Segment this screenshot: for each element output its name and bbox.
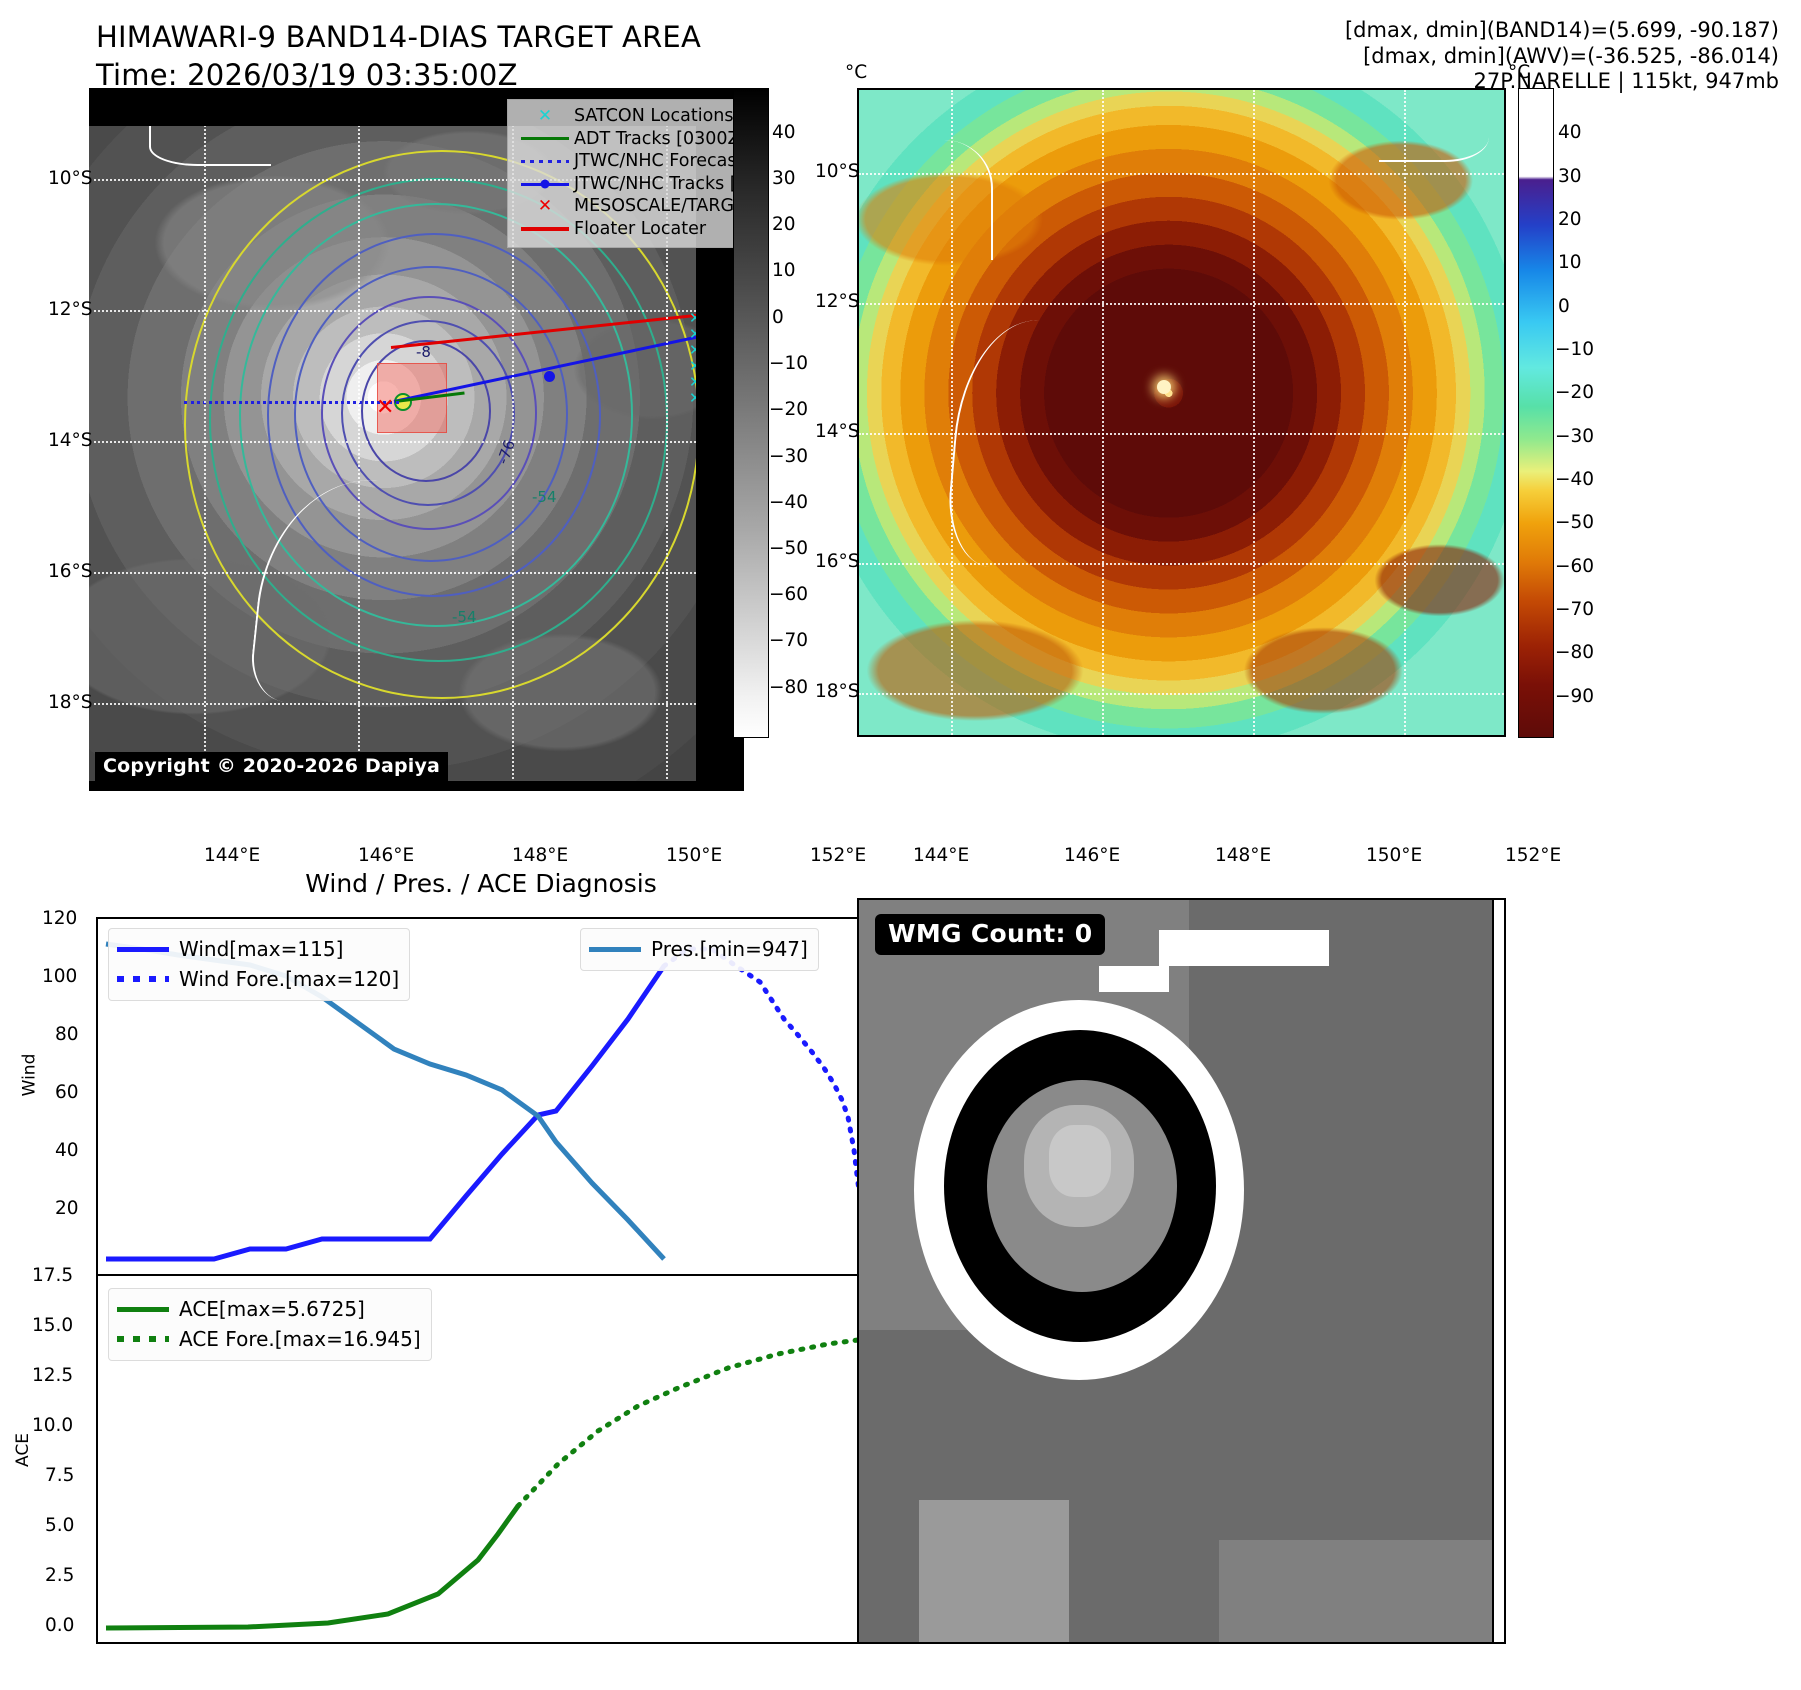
ace-legend: ACE[max=5.6725] ACE Fore.[max=16.945]	[108, 1288, 432, 1361]
wind-tick: 20	[55, 1198, 79, 1219]
colorbar-tick: 40	[1558, 122, 1582, 143]
colorbar-tick: 40	[772, 122, 796, 143]
legend-label: ACE[max=5.6725]	[179, 1294, 365, 1324]
coastline	[871, 140, 993, 260]
lon-tick: 148°E	[1215, 845, 1271, 866]
header-info: [dmax, dmin](BAND14)=(5.699, -90.187) [d…	[1345, 18, 1779, 95]
ace-observed-line	[106, 1506, 518, 1628]
lat-tick: 12°S	[815, 291, 860, 312]
ace-forecast-dotted-icon	[117, 1336, 179, 1342]
lon-tick: 146°E	[1064, 845, 1120, 866]
panel-edge-strip	[1492, 900, 1504, 1642]
legend-item: ✕ SATCON Locations [2300Z 122 944]	[516, 105, 744, 128]
wmg-white-cloud-region	[1099, 966, 1169, 992]
grid-line	[89, 310, 744, 312]
grid-line	[1404, 90, 1406, 735]
legend-item: Pres.[min=947]	[589, 934, 808, 964]
legend-label: Pres.[min=947]	[651, 934, 808, 964]
lat-tick: 10°S	[815, 161, 860, 182]
lat-tick: 16°S	[48, 561, 93, 582]
awv-range: [dmax, dmin](AWV)=(-36.525, -86.014)	[1345, 44, 1779, 70]
wind-tick: 120	[42, 908, 77, 929]
grid-line	[859, 303, 1504, 305]
colorbar-unit: °C	[1508, 62, 1530, 83]
colorbar-tick: −60	[769, 584, 808, 605]
ace-tick: 15.0	[32, 1315, 73, 1336]
wind-observed-line	[106, 966, 664, 1259]
ace-tick: 2.5	[45, 1565, 74, 1586]
ace-tick: 10.0	[32, 1415, 73, 1436]
ir-target-area-image[interactable]: ✕ ✕✕✕✕✕✕✕✕✕✕✕✕ -8 -76 -54 -54 ✕ SATCON L…	[89, 88, 744, 791]
grid-line	[89, 572, 744, 574]
diagnosis-chart-title: Wind / Pres. / ACE Diagnosis	[96, 869, 866, 898]
grid-line	[859, 563, 1504, 565]
lat-tick: 14°S	[48, 430, 93, 451]
jtwc-forecast-line	[184, 401, 399, 404]
wmg-dark-region	[919, 1500, 1069, 1642]
wmg-core-bright	[1049, 1125, 1111, 1197]
pressure-solid-line-icon	[589, 947, 651, 952]
legend-item: Wind[max=115]	[117, 934, 399, 964]
lon-tick: 144°E	[913, 845, 969, 866]
pressure-legend: Pres.[min=947]	[580, 928, 819, 971]
legend-item: JTWC/NHC Forecast [19/0000Z]	[516, 150, 744, 173]
legend-item: ADT Tracks [0300Z 115.0 946.8]	[516, 128, 744, 151]
colorbar-tick: −30	[1555, 426, 1594, 447]
lon-tick: 152°E	[810, 845, 866, 866]
legend-item: Wind Fore.[max=120]	[117, 964, 399, 994]
coastline	[1379, 100, 1489, 162]
ir-colorbar	[733, 88, 769, 738]
legend-label: Floater Locater	[574, 218, 706, 241]
adt-line-icon	[516, 129, 574, 149]
lon-tick: 146°E	[358, 845, 414, 866]
image-border-bottom	[89, 781, 744, 791]
band14-range: [dmax, dmin](BAND14)=(5.699, -90.187)	[1345, 18, 1779, 44]
ace-forecast-line	[518, 1340, 858, 1506]
lat-tick: 14°S	[815, 421, 860, 442]
colorbar-tick: 30	[772, 168, 796, 189]
lat-tick: 12°S	[48, 299, 93, 320]
lat-tick: 18°S	[48, 692, 93, 713]
title-line-1: HIMAWARI-9 BAND14-DIAS TARGET AREA	[96, 18, 896, 56]
legend-label: ACE Fore.[max=16.945]	[179, 1324, 421, 1354]
colorbar-tick: 10	[1558, 252, 1582, 273]
colorbar-tick: 20	[772, 214, 796, 235]
colorbar-tick: 20	[1558, 209, 1582, 230]
grid-line	[859, 173, 1504, 175]
dashboard-root: HIMAWARI-9 BAND14-DIAS TARGET AREA Time:…	[0, 0, 1801, 1690]
mesoscale-target-marker: ✕	[376, 401, 394, 415]
lon-tick: 150°E	[1366, 845, 1422, 866]
eye-hotspot	[1157, 380, 1171, 394]
enhanced-ir-image[interactable]	[857, 88, 1506, 737]
colorbar-tick: −90	[1555, 686, 1594, 707]
colorbar-unit: °C	[845, 62, 867, 83]
lat-tick: 10°S	[48, 168, 93, 189]
copyright-notice: Copyright © 2020-2026 Dapiya	[95, 752, 448, 781]
colorbar-tick: 10	[772, 260, 796, 281]
wmg-count-badge: WMG Count: 0	[875, 914, 1105, 955]
wind-tick: 80	[55, 1024, 79, 1045]
colorbar-tick: −80	[1555, 642, 1594, 663]
enhanced-ir-colorbar	[1518, 88, 1554, 738]
wmg-white-cloud-region	[1159, 930, 1329, 966]
wind-tick: 100	[42, 966, 77, 987]
legend-label: JTWC/NHC Tracks [19/0000Z]	[574, 173, 744, 196]
wmg-image[interactable]: WMG Count: 0	[857, 898, 1506, 1644]
forecast-dotted-line-icon	[516, 151, 574, 171]
lon-tick: 148°E	[512, 845, 568, 866]
colorbar-tick: 0	[1558, 296, 1570, 317]
lon-tick: 152°E	[1505, 845, 1561, 866]
wind-forecast-line	[664, 949, 862, 1209]
ir-legend: ✕ SATCON Locations [2300Z 122 944] ADT T…	[507, 99, 744, 248]
colorbar-tick: 30	[1558, 166, 1582, 187]
colorbar-tick: −50	[1555, 512, 1594, 533]
colorbar-tick: −20	[769, 399, 808, 420]
wind-axis-label: Wind	[19, 1054, 39, 1097]
satcon-marker-icon: ✕	[516, 106, 574, 126]
ace-axis-label: ACE	[13, 1433, 33, 1467]
legend-label: JTWC/NHC Forecast [19/0000Z]	[574, 150, 744, 173]
contour-label: -8	[416, 343, 431, 361]
colorbar-tick: −50	[769, 538, 808, 559]
colorbar-tick: −10	[1555, 339, 1594, 360]
legend-item: ✕ MESOSCALE/TARGET Location	[516, 195, 744, 218]
colorbar-tick: −80	[769, 677, 808, 698]
grid-line	[859, 433, 1504, 435]
legend-label: Wind Fore.[max=120]	[179, 964, 399, 994]
legend-label: Wind[max=115]	[179, 934, 343, 964]
wind-forecast-dotted-icon	[117, 976, 179, 982]
lon-tick: 150°E	[666, 845, 722, 866]
wind-tick: 40	[55, 1140, 79, 1161]
colorbar-tick: 0	[772, 307, 784, 328]
legend-item: Floater Locater	[516, 218, 744, 241]
grid-line	[859, 693, 1504, 695]
colorbar-tick: −60	[1555, 556, 1594, 577]
legend-item: JTWC/NHC Tracks [19/0000Z]	[516, 173, 744, 196]
lat-tick: 18°S	[815, 681, 860, 702]
ace-tick: 5.0	[45, 1515, 74, 1536]
colorbar-tick: −40	[1555, 469, 1594, 490]
contour-label: -54	[452, 608, 477, 626]
ace-tick: 12.5	[32, 1365, 73, 1386]
grid-line	[1253, 90, 1255, 735]
colorbar-tick: −30	[769, 446, 808, 467]
wind-solid-line-icon	[117, 947, 179, 952]
ace-tick: 17.5	[32, 1265, 73, 1286]
contour-label: -54	[532, 488, 557, 506]
colorbar-tick: −70	[769, 630, 808, 651]
colorbar-tick: −10	[769, 353, 808, 374]
page-title: HIMAWARI-9 BAND14-DIAS TARGET AREA Time:…	[96, 18, 896, 94]
lat-tick: 16°S	[815, 551, 860, 572]
floater-line-icon	[516, 219, 574, 239]
legend-item: ACE[max=5.6725]	[117, 1294, 421, 1324]
legend-item: ACE Fore.[max=16.945]	[117, 1324, 421, 1354]
mesoscale-marker-icon: ✕	[516, 197, 574, 217]
grid-line	[358, 88, 360, 791]
grid-line	[89, 441, 744, 443]
colorbar-tick: −70	[1555, 599, 1594, 620]
colorbar-tick: −40	[769, 492, 808, 513]
grid-line	[1102, 90, 1104, 735]
ace-tick: 7.5	[45, 1465, 74, 1486]
legend-label: SATCON Locations [2300Z 122 944]	[574, 105, 744, 128]
colorbar-tick: −20	[1555, 382, 1594, 403]
ace-solid-line-icon	[117, 1307, 179, 1312]
jtwc-track-point	[544, 371, 555, 382]
grid-line	[89, 703, 744, 705]
wind-legend: Wind[max=115] Wind Fore.[max=120]	[108, 928, 410, 1001]
ace-tick: 0.0	[45, 1615, 74, 1636]
legend-label: MESOSCALE/TARGET Location	[574, 195, 744, 218]
lon-tick: 144°E	[204, 845, 260, 866]
track-line-marker-icon	[516, 174, 574, 194]
grid-line	[204, 88, 206, 791]
grid-line	[951, 90, 953, 735]
legend-label: ADT Tracks [0300Z 115.0 946.8]	[574, 128, 744, 151]
wind-tick: 60	[55, 1082, 79, 1103]
